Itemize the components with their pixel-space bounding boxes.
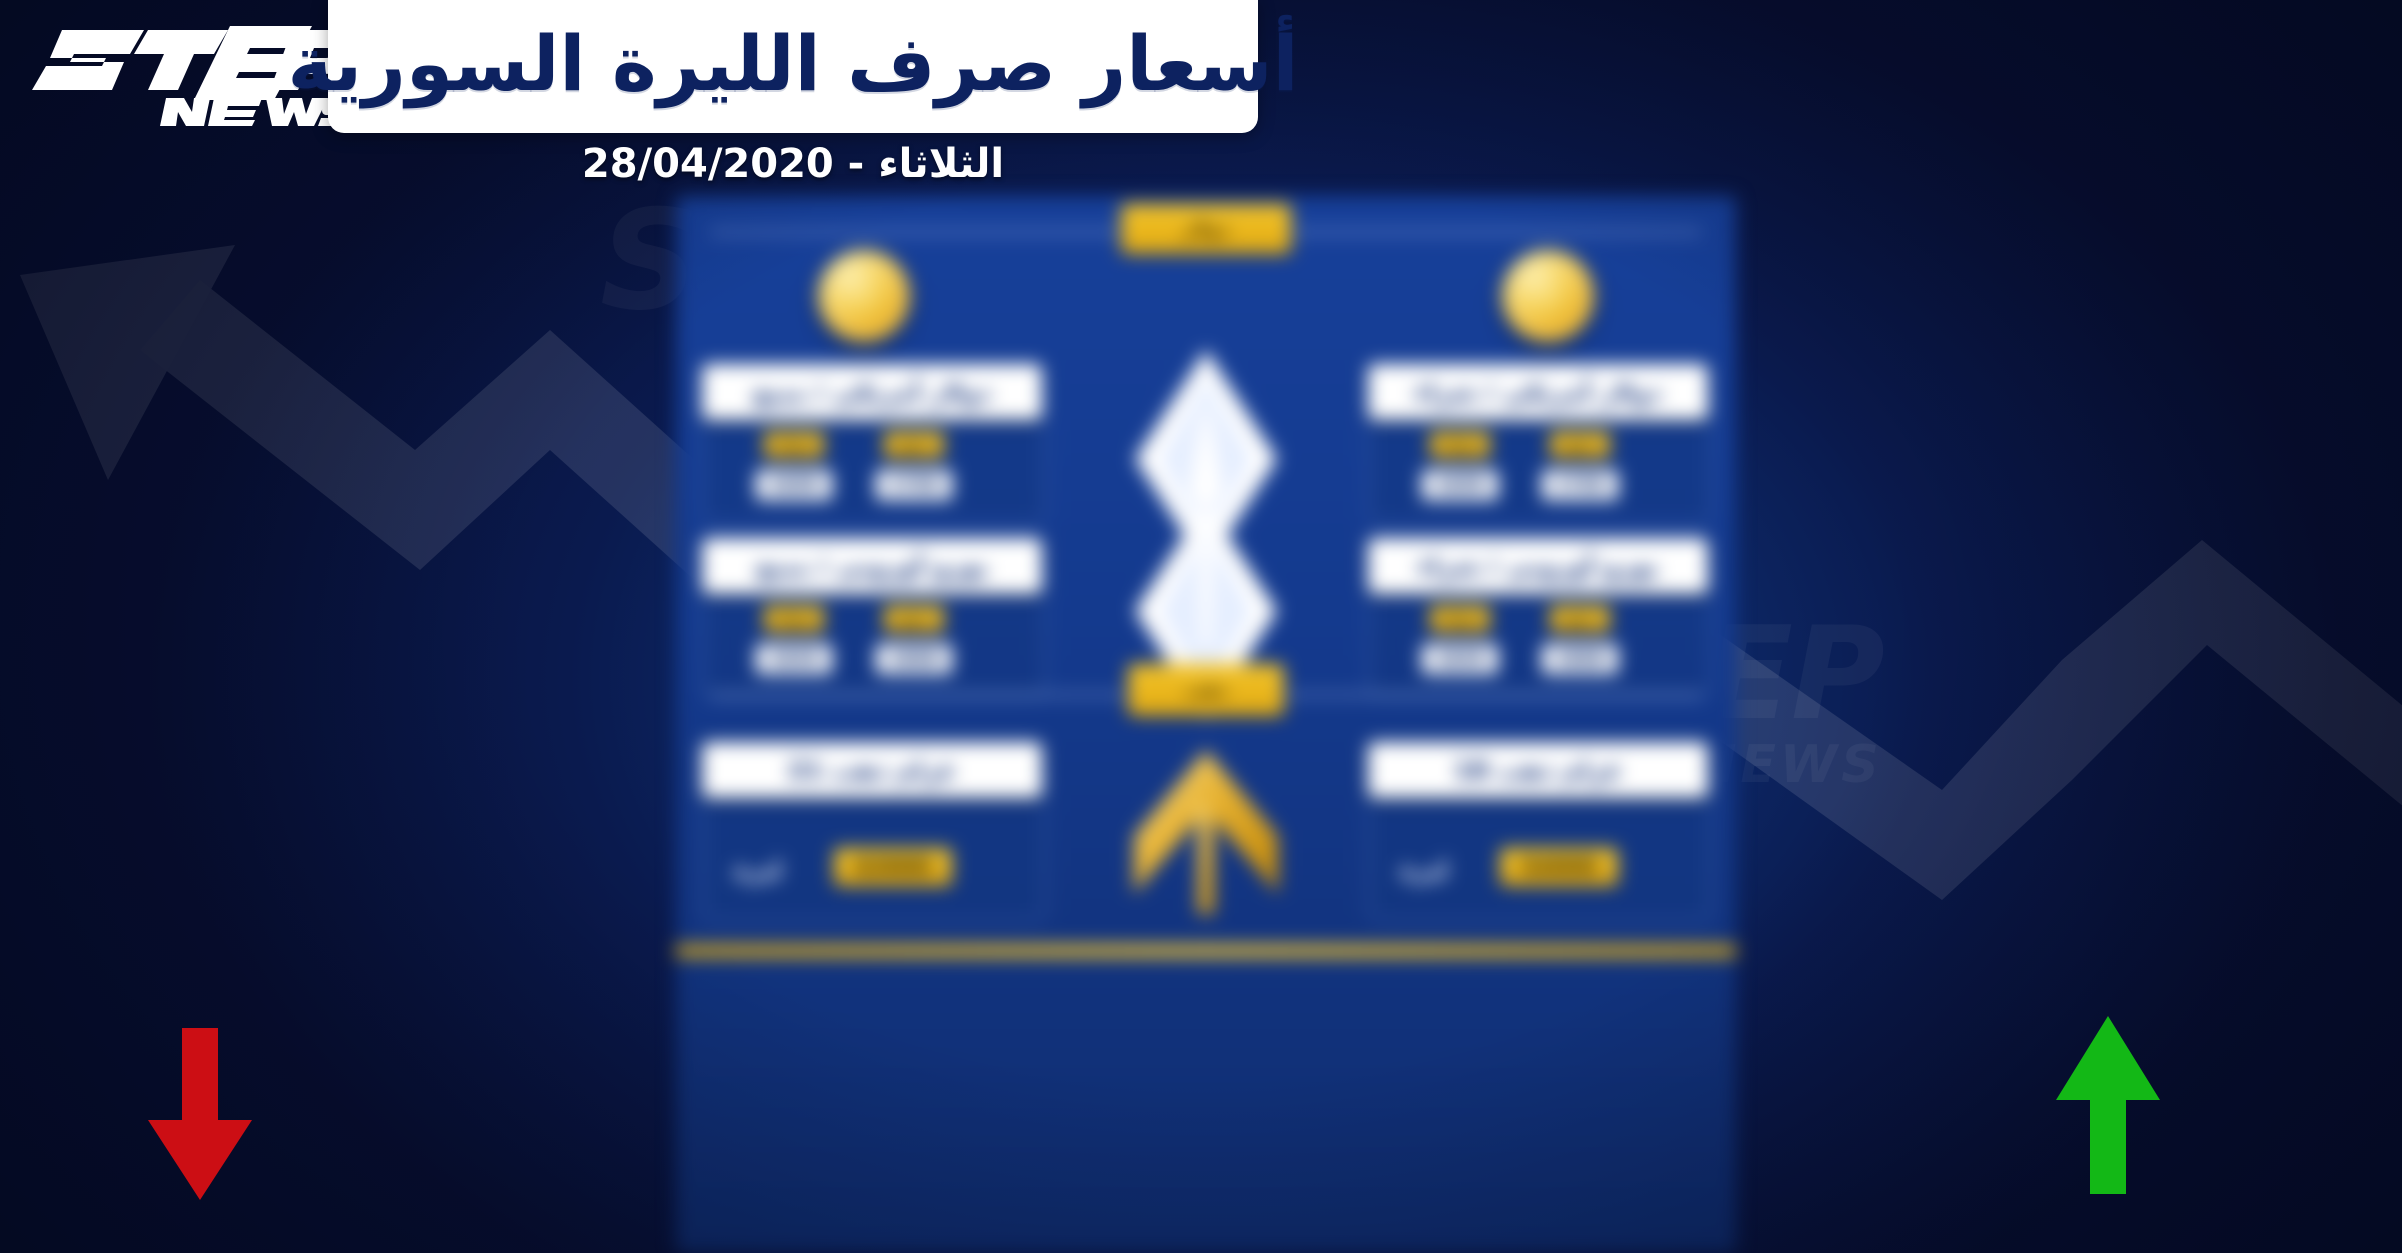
down-arrow-icon <box>148 1028 252 1200</box>
page-title: أسعار صرف الليرة السورية <box>287 26 1298 108</box>
date-label: الثلاثاء - 28/04/2020 <box>328 136 1258 192</box>
up-arrow-icon <box>2056 1016 2160 1194</box>
infographic-canvas: STEP STEP NEWS دولار دولار أمريكي / م <box>0 0 2402 1253</box>
title-banner: أسعار صرف الليرة السورية <box>328 0 1258 133</box>
